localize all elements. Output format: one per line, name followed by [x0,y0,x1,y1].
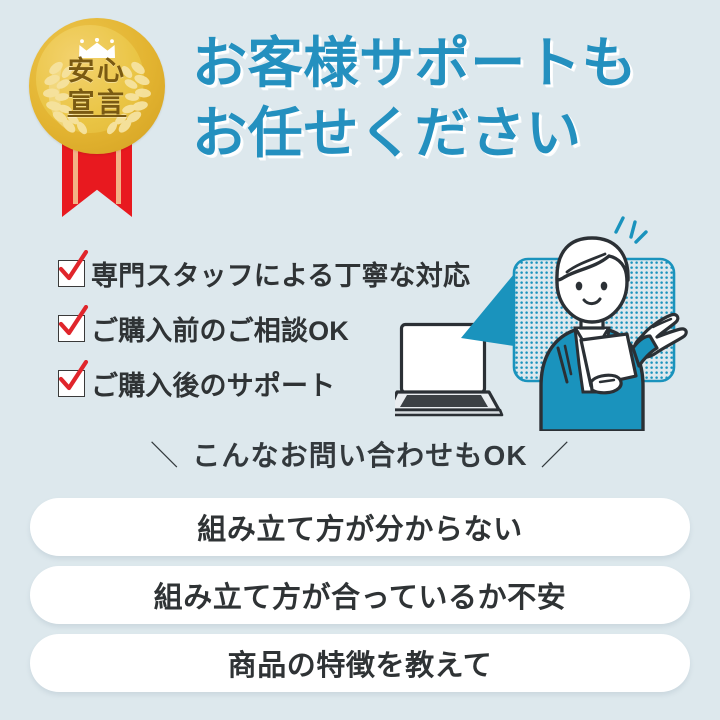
inquiry-subheading-text: こんなお問い合わせもOK [192,440,527,471]
list-item-label: 組み立て方が合っているか不安 [154,574,567,616]
list-item-label: ご購入前のご相談OK [91,309,349,348]
list-item-label: 商品の特徴を教えて [228,642,493,684]
slash-left: ＼ [146,434,183,474]
sparkle-lines-icon [616,218,646,242]
check-mark-icon [56,305,90,339]
badge-line-1: 安心 [68,56,127,86]
badge-text: 安心 宣言 [29,56,165,120]
support-banner: 安心 宣言 お客様サポートも お任せください [0,0,720,720]
inquiry-subheading: ＼ こんなお問い合わせもOK ／ [0,434,720,474]
checkbox-checked-icon [58,370,85,397]
list-item: 専門スタッフによる丁寧な対応 [58,253,470,293]
list-item-label: 専門スタッフによる丁寧な対応 [91,254,470,293]
list-item: ご購入後のサポート [58,363,470,403]
headline-line-1: お客様サポートも [192,28,712,98]
list-item: 商品の特徴を教えて [30,634,690,692]
list-item-label: 組み立て方が分からない [197,506,522,548]
page-title: お客様サポートも お任せください [192,28,712,169]
inquiry-examples-list: 組み立て方が分からない 組み立て方が合っているか不安 商品の特徴を教えて [30,498,690,702]
list-item-label: ご購入後のサポート [91,364,335,403]
checkbox-checked-icon [58,315,85,342]
feature-checklist: 専門スタッフによる丁寧な対応 ご購入前のご相談OK ご購入後のサポート [58,253,470,418]
check-mark-icon [56,250,90,284]
headline-line-2: お任せください [192,98,712,168]
list-item: ご購入前のご相談OK [58,308,470,348]
slash-right: ／ [537,434,574,474]
check-mark-icon [56,360,90,394]
badge-line-2: 宣言 [29,88,165,120]
list-item: 組み立て方が分からない [30,498,690,556]
reassurance-badge: 安心 宣言 [22,12,170,222]
list-item: 組み立て方が合っているか不安 [30,566,690,624]
checkbox-checked-icon [58,260,85,287]
